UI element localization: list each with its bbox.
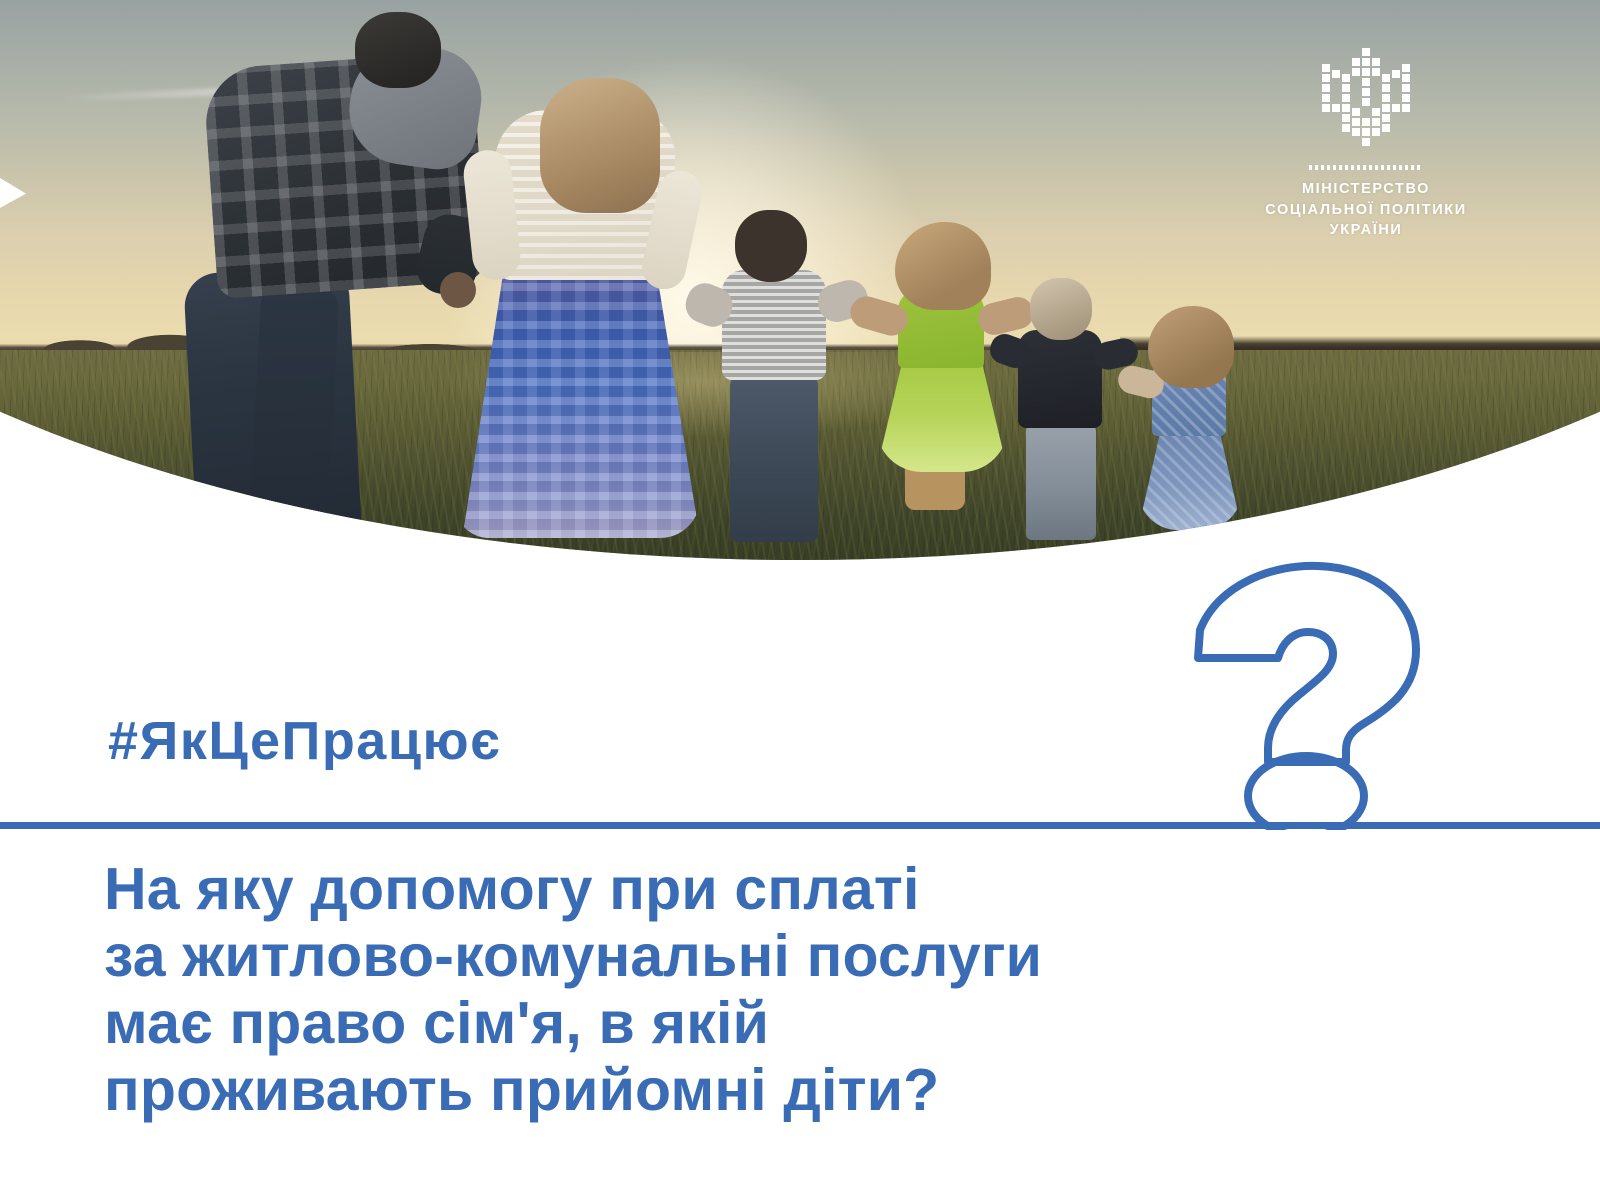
figure-child-three-head	[1030, 278, 1092, 340]
figure-child-one-torso	[722, 270, 826, 380]
figure-child-one-head	[735, 210, 807, 282]
figure-child-one-legs	[730, 372, 818, 542]
headline-line-3: має право сім'я, в якій	[104, 990, 1524, 1057]
figure-father-leg-second	[248, 283, 339, 542]
question-mark-icon	[1178, 558, 1428, 830]
figure-mother-hair	[540, 78, 660, 213]
ministry-logo-text: МІНІСТЕРСТВО СОЦІАЛЬНОЇ ПОЛІТИКИ УКРАЇНИ	[1258, 179, 1474, 241]
figure-child-three-torso	[1018, 330, 1102, 428]
logo-divider	[1309, 165, 1423, 170]
figure-child-two-hair	[895, 222, 991, 310]
hero-photo-container: МІНІСТЕРСТВО СОЦІАЛЬНОЇ ПОЛІТИКИ УКРАЇНИ	[0, 0, 1600, 580]
hashtag-label: #ЯкЦеПрацює	[108, 714, 501, 768]
headline-line-2: за житлово-комунальні послуги	[104, 923, 1524, 990]
figure-father-head	[355, 12, 441, 88]
ministry-logo: МІНІСТЕРСТВО СОЦІАЛЬНОЇ ПОЛІТИКИ УКРАЇНИ	[1258, 44, 1474, 244]
headline-question: На яку допомогу при сплаті за житлово-ко…	[104, 856, 1524, 1124]
figure-child-four-hair	[1148, 306, 1234, 388]
ukraine-trident-emblem-icon	[1312, 44, 1420, 156]
figure-father-hand	[440, 272, 476, 308]
headline-line-1: На яку допомогу при сплаті	[104, 856, 1524, 923]
poster-root: МІНІСТЕРСТВО СОЦІАЛЬНОЇ ПОЛІТИКИ УКРАЇНИ…	[0, 0, 1600, 1200]
headline-line-4: проживають прийомні діти?	[104, 1057, 1524, 1124]
figure-child-three-legs	[1026, 420, 1096, 540]
